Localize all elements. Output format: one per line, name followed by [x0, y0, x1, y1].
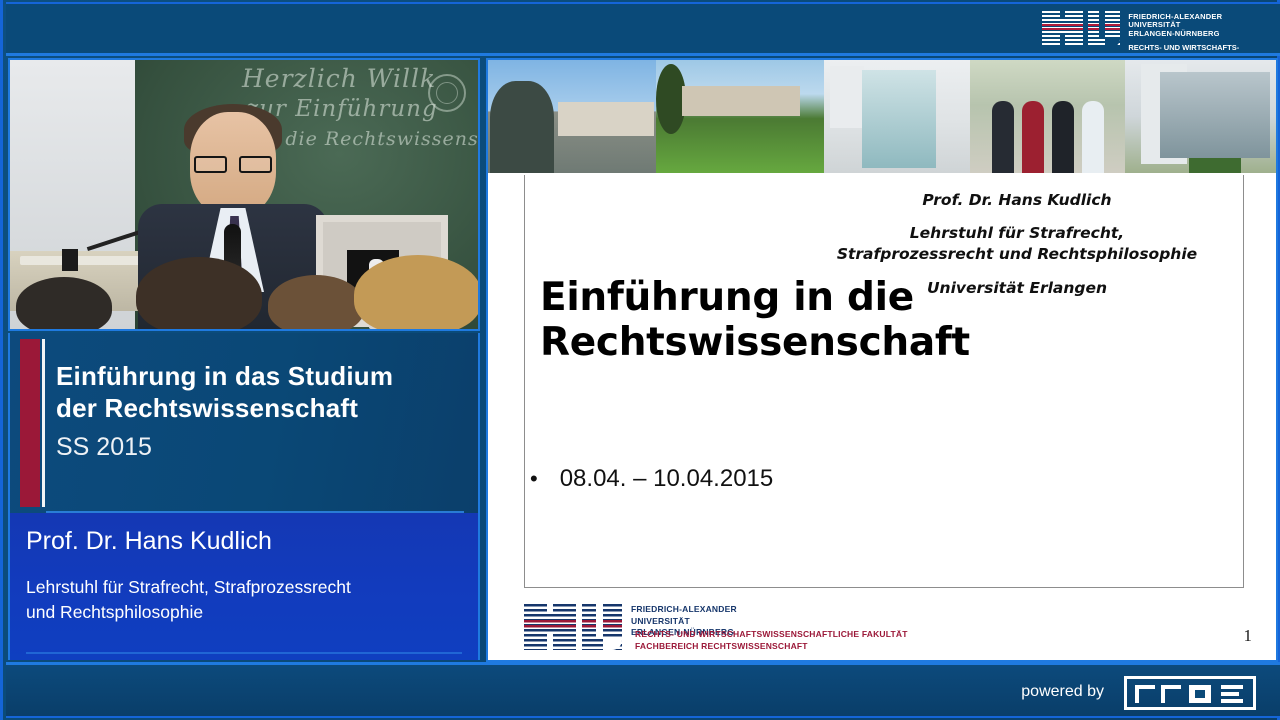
presenter-block: Prof. Dr. Hans Kudlich Lehrstuhl für Str… [8, 513, 480, 660]
page-footer: powered by [6, 662, 1280, 718]
rrze-logo-icon[interactable] [1124, 676, 1256, 710]
lecture-recording-player: FRIEDRICH-ALEXANDER UNIVERSITÄT ERLANGEN… [0, 0, 1280, 720]
slide-footer-faculty: RECHTS- UND WIRTSCHAFTSWISSENSCHAFTLICHE… [635, 629, 908, 652]
header-university-line3: ERLANGEN-NÜRNBERG [1128, 30, 1252, 38]
slide-author-name: Prof. Dr. Hans Kudlich [802, 191, 1232, 209]
chalk-text-line1: Herzlich Willk [242, 64, 436, 93]
slide-bullet-item: • 08.04. – 10.04.2015 [530, 465, 773, 493]
bullet-marker-icon: • [530, 466, 538, 492]
banner-photo-students [970, 60, 1125, 173]
banner-photo-schlossgarten [656, 60, 824, 173]
slide-footer: FRIEDRICH-ALEXANDER UNIVERSITÄT ERLANGEN… [488, 584, 1276, 662]
slide-page-number: 1 [1244, 626, 1253, 646]
slide-chair-line1: Lehrstuhl für Strafrecht, [802, 223, 1232, 244]
slide-banner-images [488, 60, 1276, 173]
audience-head [16, 277, 112, 331]
slide-footer-faculty-line1: RECHTS- UND WIRTSCHAFTSWISSENSCHAFTLICHE… [635, 629, 908, 640]
audience-head [354, 255, 480, 331]
header-faculty-line1: RECHTS- UND WIRTSCHAFTS- [1128, 44, 1252, 52]
audience-head [268, 275, 364, 331]
slide-footer-university-line1: FRIEDRICH-ALEXANDER [631, 604, 737, 616]
slide-chair-line2: Strafprozessrecht und Rechtsphilosophie [802, 244, 1232, 265]
lecturer-video[interactable]: Herzlich Willk zur Einführung in die Rec… [8, 58, 480, 331]
lectern-device [62, 249, 78, 271]
slide-body: Prof. Dr. Hans Kudlich Lehrstuhl für Str… [488, 173, 1276, 662]
slide-title-line1: Einführung in die [540, 275, 970, 320]
powered-by-label: powered by [1021, 683, 1104, 701]
lecture-title-line1: Einführung in das Studium [56, 361, 464, 393]
presenter-name: Prof. Dr. Hans Kudlich [26, 527, 272, 556]
glasses-icon [194, 156, 272, 173]
maroon-accent-bar [20, 339, 40, 507]
slide-title-line2: Rechtswissenschaft [540, 320, 970, 365]
left-column: Herzlich Willk zur Einführung in die Rec… [8, 58, 480, 662]
white-accent-line [42, 339, 45, 507]
presenter-chair-line2: und Rechtsphilosophie [26, 600, 454, 625]
lecture-title-line2: der Rechtswissenschaft [56, 393, 464, 425]
slide-footer-faculty-line2: FACHBEREICH RECHTSWISSENSCHAFT [635, 641, 908, 652]
page-header: FRIEDRICH-ALEXANDER UNIVERSITÄT ERLANGEN… [6, 2, 1280, 56]
slide-title: Einführung in die Rechtswissenschaft [540, 275, 970, 365]
banner-photo-glass-building [824, 60, 970, 173]
slide-bullet-text: 08.04. – 10.04.2015 [560, 465, 774, 493]
slide-footer-university-line2: UNIVERSITÄT [631, 616, 737, 628]
lecture-semester: SS 2015 [56, 433, 464, 462]
presentation-slide[interactable]: Prof. Dr. Hans Kudlich Lehrstuhl für Str… [486, 58, 1278, 662]
presenter-chair-line1: Lehrstuhl für Strafrecht, Strafprozessre… [26, 575, 454, 600]
presenter-separator [26, 652, 462, 654]
fau-logo-icon [1042, 11, 1120, 47]
presenter-chair: Lehrstuhl für Strafrecht, Strafprozessre… [26, 575, 454, 626]
lecture-title-block: Einführung in das Studium der Rechtswiss… [8, 333, 480, 513]
banner-photo-schlossplatz [488, 60, 656, 173]
audience-head [136, 257, 262, 331]
fau-logo-icon [524, 604, 622, 650]
banner-photo-campus [1125, 60, 1276, 173]
